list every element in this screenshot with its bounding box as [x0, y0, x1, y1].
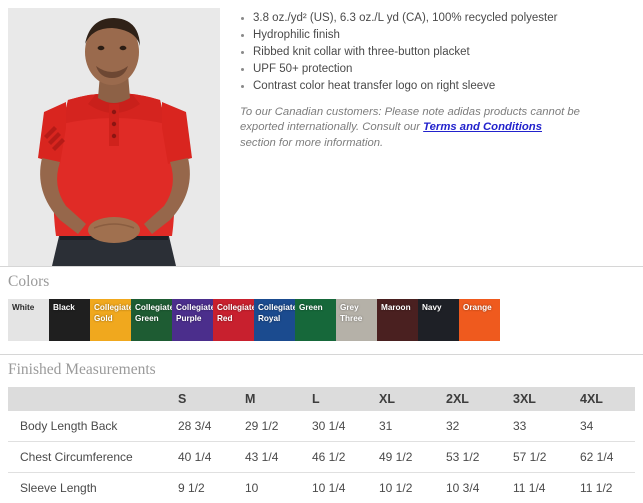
table-header-m: M — [245, 392, 312, 406]
cell: 57 1/2 — [513, 450, 580, 464]
cell: 11 1/2 — [580, 481, 643, 495]
cell: 34 — [580, 419, 643, 433]
color-swatch-label: Collegiate Green — [135, 303, 170, 324]
table-header-3xl: 3XL — [513, 392, 580, 406]
table-row: Chest Circumference 40 1/4 43 1/4 46 1/2… — [8, 442, 635, 473]
list-item: 3.8 oz./yd² (US), 6.3 oz./L yd (CA), 100… — [240, 10, 629, 26]
color-swatch-label: Collegiate Red — [217, 303, 252, 324]
table-header-row: S M L XL 2XL 3XL 4XL — [8, 387, 635, 411]
table-header-l: L — [312, 392, 379, 406]
cell: 10 1/2 — [379, 481, 446, 495]
list-item: Ribbed knit collar with three-button pla… — [240, 44, 629, 60]
model-photo-illustration — [8, 8, 220, 266]
measurements-section-divider — [0, 354, 643, 355]
table-row: Sleeve Length 9 1/2 10 10 1/4 10 1/2 10 … — [8, 473, 635, 503]
color-swatch-collegiate-red[interactable]: Collegiate Red — [213, 299, 254, 341]
colors-section-divider — [0, 266, 643, 267]
cell: 30 1/4 — [312, 419, 379, 433]
cell: 43 1/4 — [245, 450, 312, 464]
product-image[interactable] — [8, 8, 220, 266]
cell: 33 — [513, 419, 580, 433]
color-swatch-orange[interactable]: Orange — [459, 299, 500, 341]
table-header-s: S — [178, 392, 245, 406]
cell: 40 1/4 — [178, 450, 245, 464]
color-swatch-collegiate-gold[interactable]: Collegiate Gold — [90, 299, 131, 341]
color-swatch-collegiate-royal[interactable]: Collegiate Royal — [254, 299, 295, 341]
terms-and-conditions-link[interactable]: Terms and Conditions — [423, 121, 542, 133]
color-swatch-label: Collegiate Gold — [94, 303, 129, 324]
color-swatch-label: Collegiate Royal — [258, 303, 293, 324]
product-overview: 3.8 oz./yd² (US), 6.3 oz./L yd (CA), 100… — [0, 0, 643, 266]
cell: 32 — [446, 419, 513, 433]
color-swatch-label: White — [12, 303, 47, 314]
table-row: Body Length Back 28 3/4 29 1/2 30 1/4 31… — [8, 411, 635, 442]
note-text-after: section for more information. — [240, 137, 383, 149]
row-label: Body Length Back — [8, 419, 178, 433]
color-swatch-grey-three[interactable]: Grey Three — [336, 299, 377, 341]
table-header-4xl: 4XL — [580, 392, 643, 406]
cell: 11 1/4 — [513, 481, 580, 495]
list-item: Hydrophilic finish — [240, 27, 629, 43]
color-swatch-label: Orange — [463, 303, 498, 314]
measurements-table: S M L XL 2XL 3XL 4XL Body Length Back 28… — [8, 387, 635, 503]
color-swatch-label: Navy — [422, 303, 457, 314]
color-swatch-collegiate-green[interactable]: Collegiate Green — [131, 299, 172, 341]
color-swatch-collegiate-purple[interactable]: Collegiate Purple — [172, 299, 213, 341]
color-swatch-label: Collegiate Purple — [176, 303, 211, 324]
colors-heading: Colors — [8, 273, 643, 291]
cell: 9 1/2 — [178, 481, 245, 495]
list-item: Contrast color heat transfer logo on rig… — [240, 78, 629, 94]
color-swatch-label: Maroon — [381, 303, 416, 314]
cell: 31 — [379, 419, 446, 433]
color-swatch-green[interactable]: Green — [295, 299, 336, 341]
cell: 10 1/4 — [312, 481, 379, 495]
color-swatch-navy[interactable]: Navy — [418, 299, 459, 341]
canadian-customers-note: To our Canadian customers: Please note a… — [240, 105, 580, 151]
cell: 29 1/2 — [245, 419, 312, 433]
color-swatch-black[interactable]: Black — [49, 299, 90, 341]
color-swatch-label: Black — [53, 303, 88, 314]
color-swatch-label: Grey Three — [340, 303, 375, 324]
feature-list: 3.8 oz./yd² (US), 6.3 oz./L yd (CA), 100… — [240, 10, 629, 94]
row-label: Sleeve Length — [8, 481, 178, 495]
table-header-xl: XL — [379, 392, 446, 406]
color-swatch-maroon[interactable]: Maroon — [377, 299, 418, 341]
cell: 62 1/4 — [580, 450, 643, 464]
cell: 53 1/2 — [446, 450, 513, 464]
table-header-2xl: 2XL — [446, 392, 513, 406]
color-swatch-label: Green — [299, 303, 334, 314]
color-swatch-white[interactable]: White — [8, 299, 49, 341]
cell: 28 3/4 — [178, 419, 245, 433]
list-item: UPF 50+ protection — [240, 61, 629, 77]
row-label: Chest Circumference — [8, 450, 178, 464]
product-specs: 3.8 oz./yd² (US), 6.3 oz./L yd (CA), 100… — [220, 0, 643, 163]
cell: 49 1/2 — [379, 450, 446, 464]
color-swatch-list: White Black Collegiate Gold Collegiate G… — [8, 299, 643, 341]
cell: 10 3/4 — [446, 481, 513, 495]
cell: 46 1/2 — [312, 450, 379, 464]
measurements-heading: Finished Measurements — [8, 361, 643, 379]
cell: 10 — [245, 481, 312, 495]
